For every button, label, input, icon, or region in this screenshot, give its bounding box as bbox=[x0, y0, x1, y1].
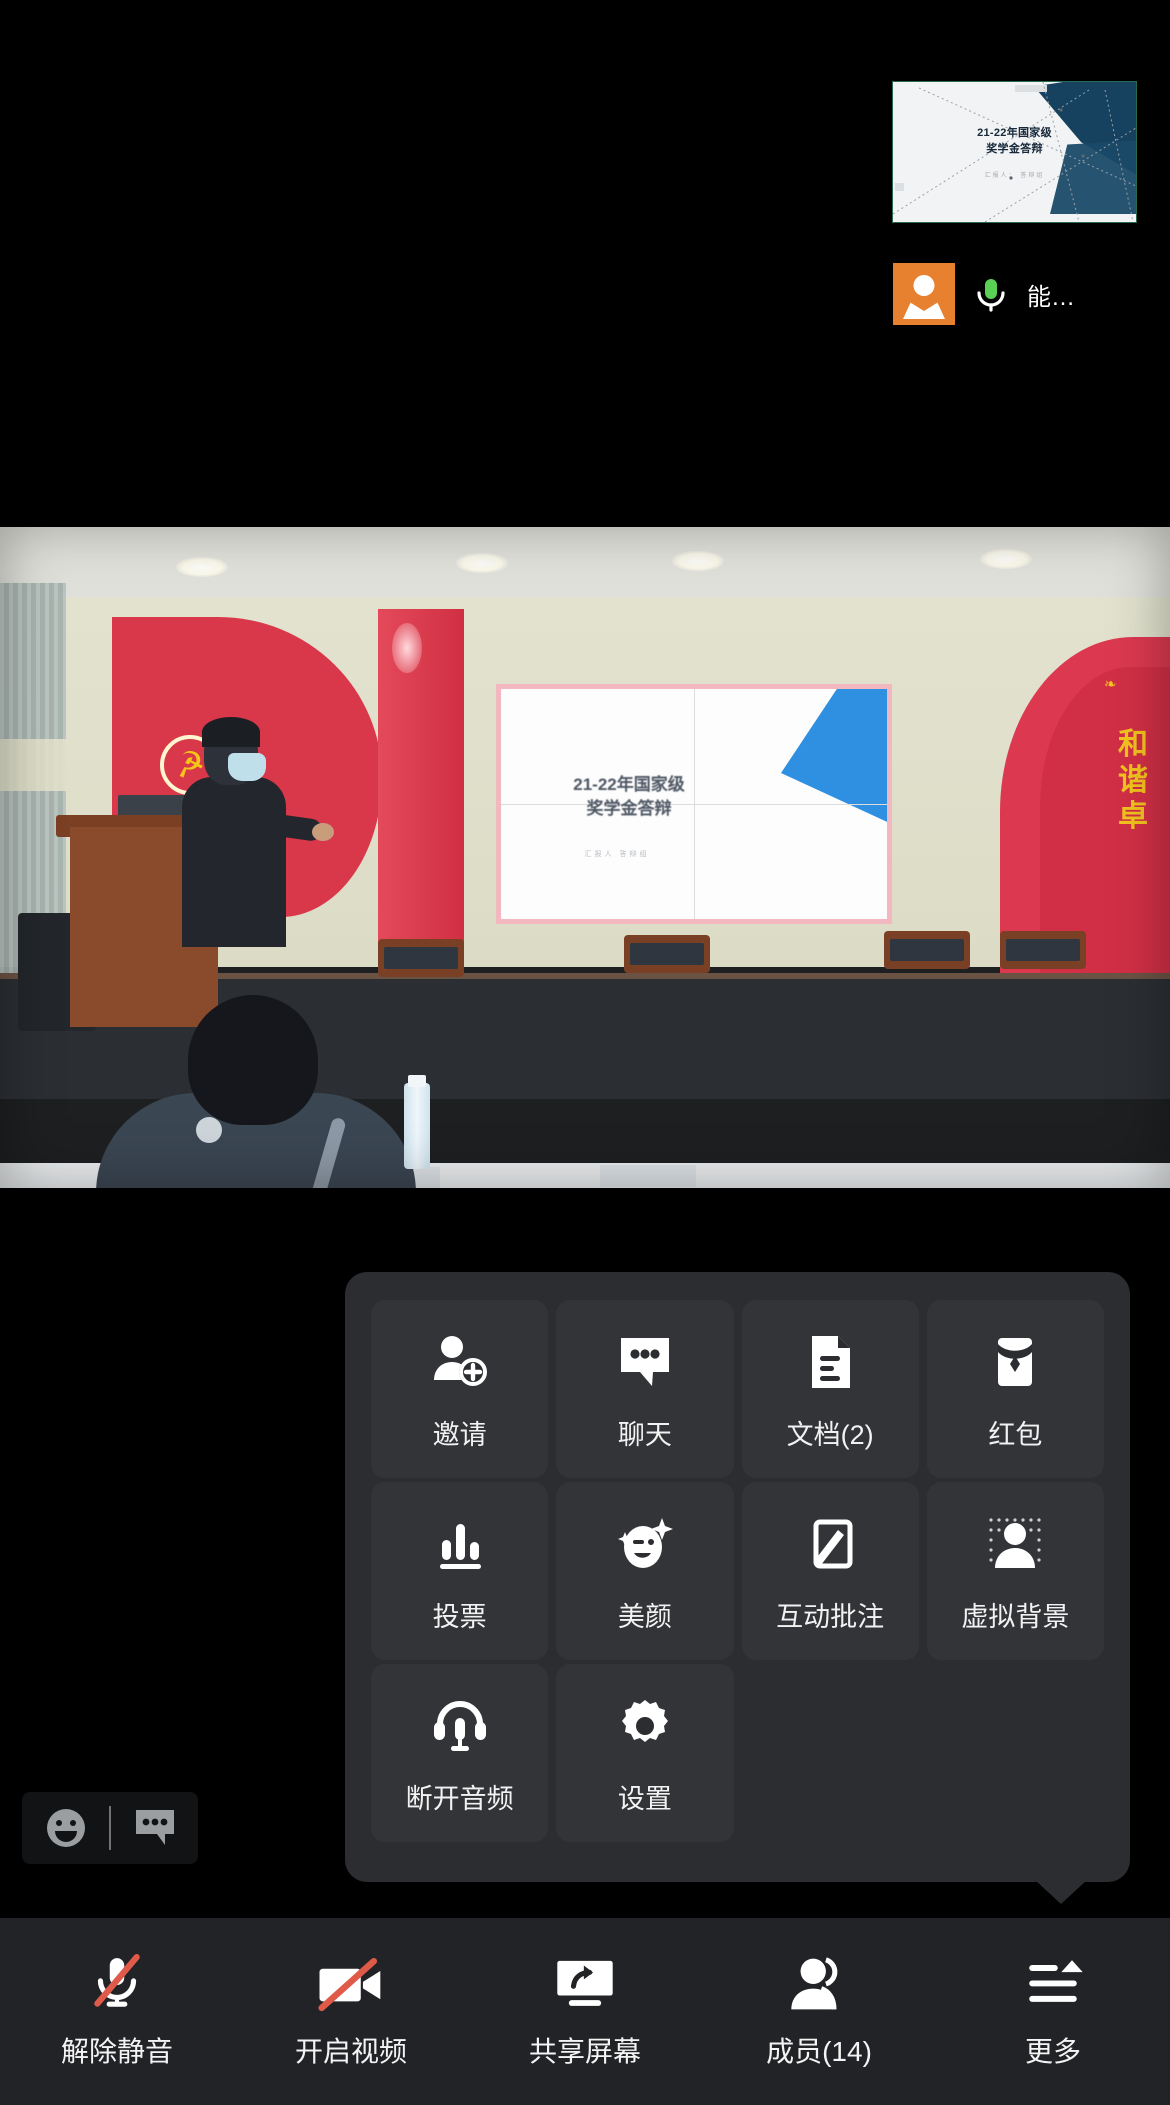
chair bbox=[624, 935, 710, 973]
virtual-background-person-icon bbox=[980, 1509, 1050, 1579]
microphone-muted-icon bbox=[79, 1954, 155, 2014]
emoji-reaction-button[interactable] bbox=[22, 1806, 109, 1850]
menu-item-settings[interactable]: 设置 bbox=[556, 1664, 733, 1842]
menu-item-chat[interactable]: 聊天 bbox=[556, 1300, 733, 1478]
water-bottle bbox=[404, 1083, 430, 1169]
toolbar-item-label: 成员(14) bbox=[766, 2030, 872, 2070]
menu-item-label: 美颜 bbox=[618, 1595, 672, 1634]
toolbar-more-button[interactable]: 更多 bbox=[936, 1954, 1170, 2070]
smiley-icon bbox=[44, 1806, 88, 1850]
participants-icon bbox=[781, 1954, 857, 2014]
quick-chat-button[interactable] bbox=[111, 1806, 198, 1850]
right-banner-text: 和 谐 卓 bbox=[1118, 727, 1148, 835]
face-mask-icon bbox=[228, 753, 266, 781]
share-screen-icon bbox=[547, 1954, 623, 2014]
ceiling-light-icon bbox=[980, 549, 1032, 569]
banner-flame-logo-icon: ❧ bbox=[1104, 675, 1117, 693]
toolbar-unmute-button[interactable]: 解除静音 bbox=[0, 1954, 234, 2070]
menu-item-annotation[interactable]: 互动批注 bbox=[742, 1482, 919, 1660]
menu-item-label: 互动批注 bbox=[776, 1595, 884, 1634]
menu-item-red-packet[interactable]: 红包 bbox=[927, 1300, 1104, 1478]
participant-name: 能… bbox=[1027, 277, 1075, 312]
beauty-sparkle-face-icon bbox=[610, 1509, 680, 1579]
red-packet-icon bbox=[980, 1327, 1050, 1397]
active-speaker-video[interactable]: ☭ 永 21-22年国家级 奖学金答辩 汇报人 答辩组 ❧ 和 谐 卓 bbox=[0, 527, 1170, 1188]
shirt-logo-icon bbox=[196, 1117, 222, 1143]
more-menu-grid: 邀请 聊天 bbox=[371, 1300, 1104, 1842]
menu-item-disconnect-audio[interactable]: 断开音频 bbox=[371, 1664, 548, 1842]
menu-item-label: 设置 bbox=[618, 1777, 672, 1816]
thumbnail-slide-subtitle: 汇报人： 答辩组 bbox=[893, 170, 1136, 179]
menu-item-label: 邀请 bbox=[433, 1413, 487, 1452]
thumbnail-slide: 21-22年国家级 奖学金答辩 汇报人： 答辩组 bbox=[893, 82, 1136, 222]
thumbnail-strip: 21-22年国家级 奖学金答辩 汇报人： 答辩组 能… bbox=[0, 0, 1170, 527]
toolbar-participants-button[interactable]: 成员(14) bbox=[702, 1954, 936, 2070]
menu-item-invite[interactable]: 邀请 bbox=[371, 1300, 548, 1478]
reaction-pill[interactable] bbox=[22, 1792, 198, 1864]
slide-blue-polygon-icon bbox=[781, 689, 887, 833]
menu-item-beauty[interactable]: 美颜 bbox=[556, 1482, 733, 1660]
camera-off-icon bbox=[313, 1954, 389, 2014]
avatar bbox=[893, 263, 955, 325]
menu-item-label: 聊天 bbox=[618, 1413, 672, 1452]
bottom-toolbar: 解除静音 开启视频 共享屏幕 bbox=[0, 1918, 1170, 2105]
menu-item-label: 断开音频 bbox=[406, 1777, 514, 1816]
annotate-pen-icon bbox=[795, 1509, 865, 1579]
person-icon-body bbox=[903, 298, 945, 319]
menu-item-label: 虚拟背景 bbox=[961, 1595, 1069, 1634]
chair bbox=[884, 931, 970, 969]
presenter-body bbox=[182, 777, 286, 947]
banner-char-3: 卓 bbox=[1118, 799, 1148, 835]
thumbnail-slide-title: 21-22年国家级 奖学金答辩 bbox=[893, 126, 1136, 157]
menu-item-documents[interactable]: 文档(2) bbox=[742, 1300, 919, 1478]
ceiling-light-icon bbox=[176, 557, 228, 577]
toolbar-item-label: 开启视频 bbox=[295, 2030, 407, 2070]
shared-screen-thumbnail[interactable]: 21-22年国家级 奖学金答辩 汇报人： 答辩组 bbox=[893, 82, 1136, 222]
menu-grid-spacer bbox=[742, 1664, 919, 1842]
projector-slide-title: 21-22年国家级 奖学金答辩 bbox=[519, 773, 739, 821]
toolbar-item-label: 更多 bbox=[1025, 2030, 1081, 2070]
microphone-on-icon bbox=[971, 274, 1011, 314]
poll-bars-icon bbox=[425, 1509, 495, 1579]
popup-tail bbox=[1035, 1880, 1087, 1904]
projector-slide-subtitle: 汇报人 答辩组 bbox=[527, 849, 707, 859]
thumbnail-title-line1: 21-22年国家级 bbox=[893, 126, 1136, 142]
presenter-hand bbox=[312, 823, 334, 841]
red-wall-panel bbox=[378, 609, 464, 989]
gear-icon bbox=[610, 1691, 680, 1761]
curtain-band bbox=[0, 739, 66, 791]
menu-item-poll[interactable]: 投票 bbox=[371, 1482, 548, 1660]
projector-title-line2: 奖学金答辩 bbox=[519, 797, 739, 821]
menu-item-virtual-background[interactable]: 虚拟背景 bbox=[927, 1482, 1104, 1660]
projector-screen: 21-22年国家级 奖学金答辩 汇报人 答辩组 bbox=[501, 689, 887, 919]
headset-mic-icon bbox=[425, 1691, 495, 1761]
paper-sheet bbox=[600, 1165, 696, 1187]
presenter-hair bbox=[202, 717, 260, 747]
menu-item-label: 文档(2) bbox=[787, 1413, 874, 1452]
wall-gloss-highlight bbox=[392, 623, 422, 673]
toolbar-start-video-button[interactable]: 开启视频 bbox=[234, 1954, 468, 2070]
person-icon-head bbox=[914, 275, 935, 296]
projector-screen-frame: 21-22年国家级 奖学金答辩 汇报人 答辩组 bbox=[496, 684, 892, 924]
ceiling-light-icon bbox=[456, 553, 508, 573]
chat-bubble-icon bbox=[132, 1806, 178, 1850]
toolbar-item-label: 共享屏幕 bbox=[529, 2030, 641, 2070]
toolbar-item-label: 解除静音 bbox=[61, 2030, 173, 2070]
thumbnail-title-line2: 奖学金答辩 bbox=[893, 142, 1136, 158]
ceiling-light-icon bbox=[672, 551, 724, 571]
add-person-icon bbox=[425, 1327, 495, 1397]
toolbar-share-screen-button[interactable]: 共享屏幕 bbox=[468, 1954, 702, 2070]
participant-thumbnail[interactable]: 能… bbox=[893, 263, 1075, 325]
menu-item-label: 投票 bbox=[433, 1595, 487, 1634]
banner-char-1: 和 bbox=[1118, 727, 1148, 763]
document-icon bbox=[795, 1327, 865, 1397]
projector-title-line1: 21-22年国家级 bbox=[519, 773, 739, 797]
chat-bubble-icon bbox=[610, 1327, 680, 1397]
banner-char-2: 谐 bbox=[1118, 763, 1148, 799]
more-menu-panel[interactable]: 邀请 聊天 bbox=[345, 1272, 1130, 1882]
video-frame-content: ☭ 永 21-22年国家级 奖学金答辩 汇报人 答辩组 ❧ 和 谐 卓 bbox=[0, 527, 1170, 1188]
menu-item-label: 红包 bbox=[988, 1413, 1042, 1452]
chair bbox=[378, 939, 464, 977]
menu-grid-spacer bbox=[927, 1664, 1104, 1842]
foreground-attendee-head bbox=[188, 995, 318, 1125]
water-bottle-cap bbox=[408, 1075, 426, 1087]
chair bbox=[1000, 931, 1086, 969]
more-menu-icon bbox=[1015, 1954, 1091, 2014]
